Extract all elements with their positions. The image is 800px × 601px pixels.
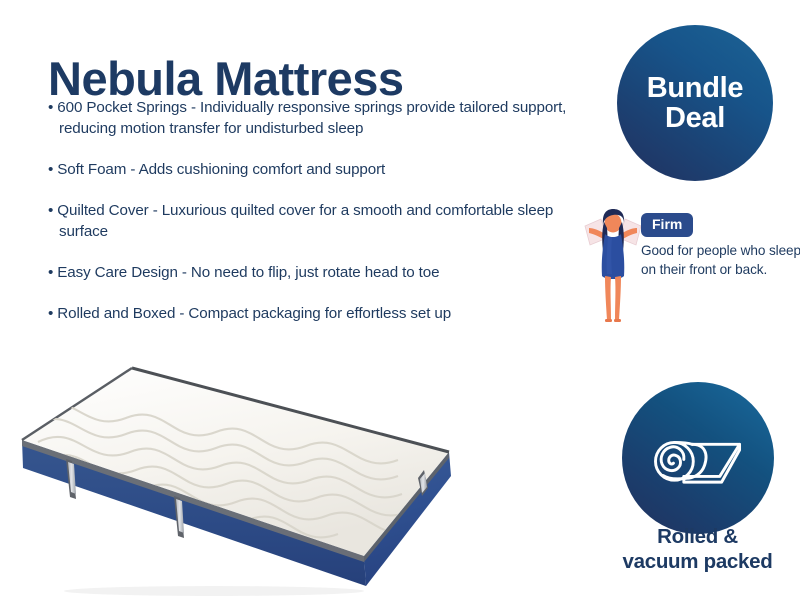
firmness-description: Good for people who sleep on their front… [641,241,800,280]
bundle-deal-badge[interactable]: Bundle Deal [617,25,773,181]
status-badge: Firm [641,213,693,237]
product-info-column: Nebula Mattress 600 Pocket Springs - Ind… [0,0,600,600]
rolled-caption-line-1: Rolled & [595,524,800,549]
rolled-vacuum-packed-caption: Rolled & vacuum packed [595,524,800,574]
list-item: 600 Pocket Springs - Individually respon… [48,98,588,140]
bundle-deal-line-1: Bundle [647,73,743,103]
woman-with-pillows-icon [581,204,645,324]
list-item: Quilted Cover - Luxurious quilted cover … [48,201,588,243]
feature-list: 600 Pocket Springs - Individually respon… [48,98,588,345]
rolled-vacuum-packed-badge [622,382,774,534]
badges-column: Bundle Deal [600,0,800,600]
mattress-product-photo [14,348,484,596]
rolled-mattress-icon [646,416,750,501]
list-item: Rolled and Boxed - Compact packaging for… [48,304,588,325]
bundle-deal-line-2: Deal [647,103,743,133]
firmness-section: Firm Good for people who sleep on their … [600,204,800,326]
bundle-deal-label: Bundle Deal [647,73,743,134]
list-item: Soft Foam - Adds cushioning comfort and … [48,160,588,181]
list-item: Easy Care Design - No need to flip, just… [48,263,588,284]
rolled-caption-line-2: vacuum packed [595,549,800,574]
